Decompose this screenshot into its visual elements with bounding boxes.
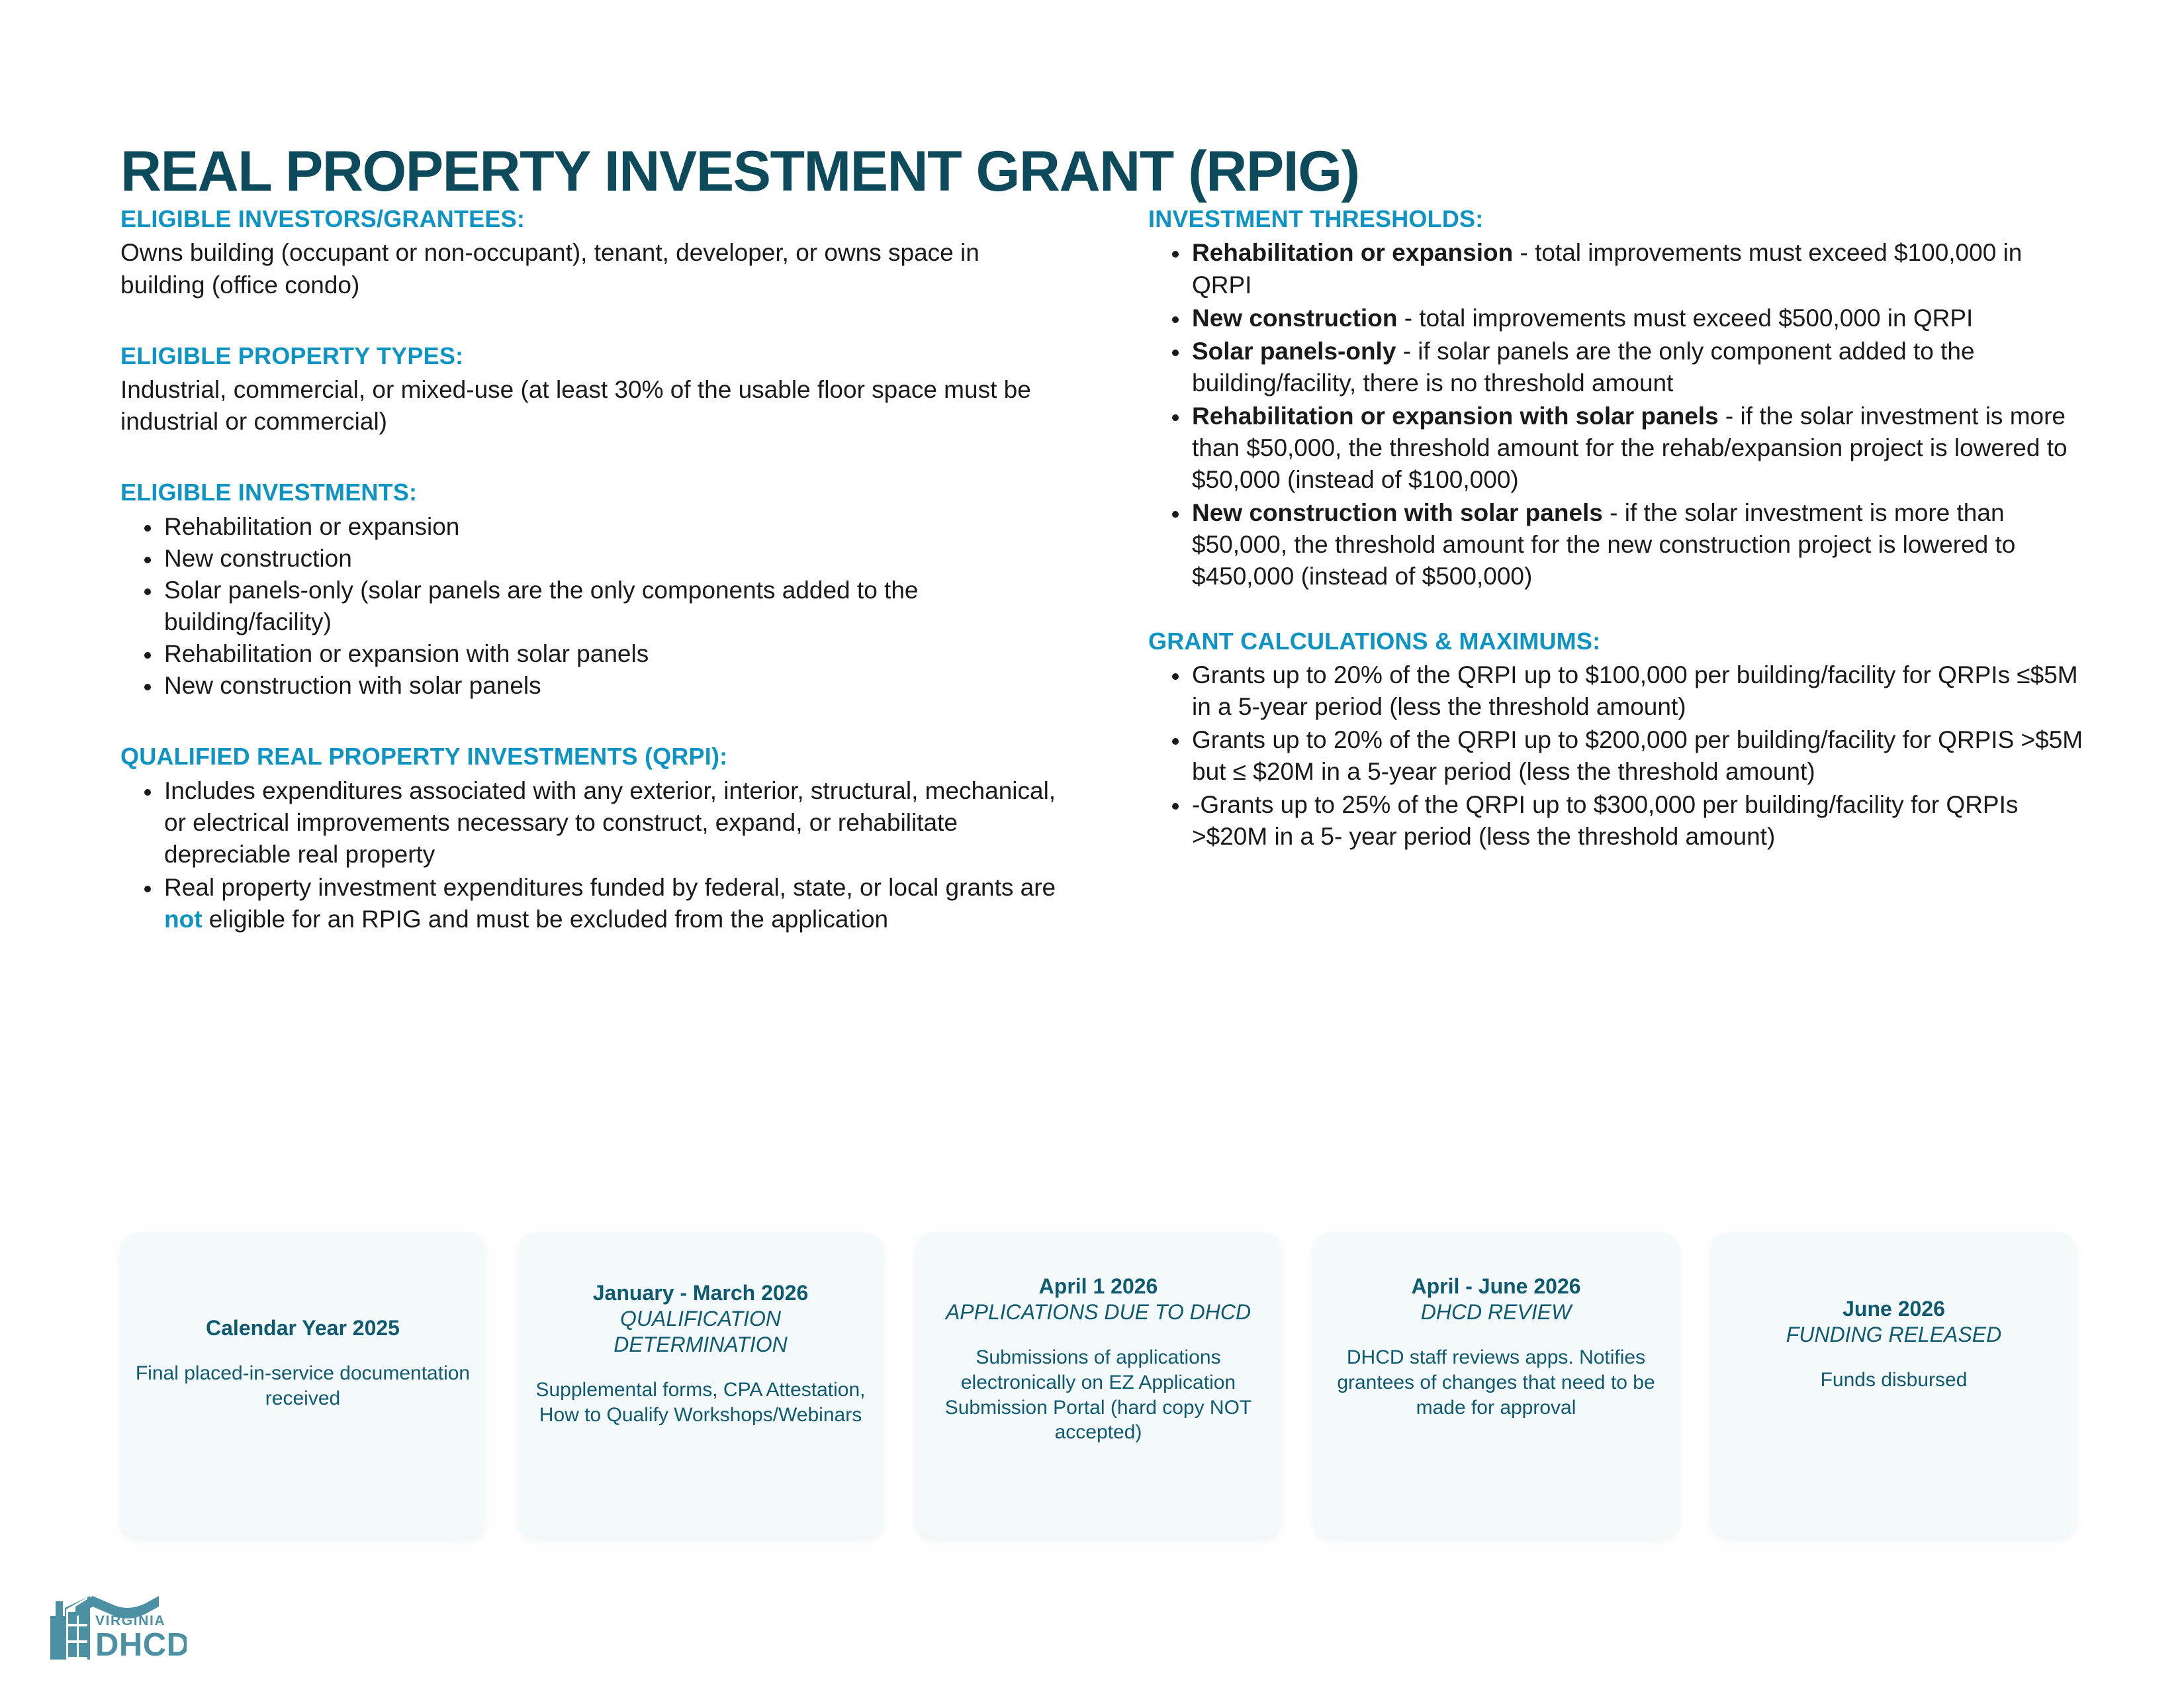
section-heading-property-types: ELIGIBLE PROPERTY TYPES: — [120, 342, 1060, 370]
timeline-card-content: June 2026 FUNDING RELEASED Funds disburs… — [1726, 1296, 2062, 1393]
timeline-phase: DHCD REVIEW — [1328, 1299, 1664, 1325]
document-page: REAL PROPERTY INVESTMENT GRANT (RPIG) EL… — [0, 0, 2184, 1688]
dhcd-logo: VIRGINIA DHCD — [48, 1592, 187, 1668]
timeline-card-content: April - June 2026 DHCD REVIEW DHCD staff… — [1328, 1274, 1664, 1420]
threshold-term: New construction with solar panels — [1192, 499, 1603, 526]
spacer — [120, 301, 1060, 342]
timeline-date: January - March 2026 — [533, 1280, 868, 1306]
list-item: New construction - total improvements mu… — [1148, 303, 2088, 334]
timeline-date: April 1 2026 — [931, 1274, 1266, 1299]
threshold-term: New construction — [1192, 305, 1397, 332]
qrpi-highlight-not: not — [164, 906, 203, 933]
timeline-card-content: Calendar Year 2025 Final placed-in-servi… — [135, 1315, 471, 1411]
qrpi-list: Includes expenditures associated with an… — [120, 775, 1060, 935]
timeline-card-content: January - March 2026 QUALIFICATION DETER… — [533, 1280, 868, 1428]
virginia-dhcd-logo-icon: VIRGINIA DHCD — [48, 1592, 187, 1668]
section-eligible-property-types: ELIGIBLE PROPERTY TYPES: Industrial, com… — [120, 342, 1060, 438]
list-item: -Grants up to 25% of the QRPI up to $300… — [1148, 789, 2088, 853]
list-item: New construction with solar panels - if … — [1148, 497, 2088, 592]
property-types-body: Industrial, commercial, or mixed-use (at… — [120, 374, 1060, 438]
section-heading-grant-calculations: GRANT CALCULATIONS & MAXIMUMS: — [1148, 628, 2088, 655]
grant-calculations-list: Grants up to 20% of the QRPI up to $100,… — [1148, 659, 2088, 853]
qrpi-text-after: eligible for an RPIG and must be exclude… — [203, 906, 889, 933]
list-item: New construction — [120, 543, 1060, 575]
section-heading-qrpi: QUALIFIED REAL PROPERTY INVESTMENTS (QRP… — [120, 743, 1060, 771]
timeline-phase: QUALIFICATION DETERMINATION — [533, 1306, 868, 1358]
list-item: Rehabilitation or expansion - total impr… — [1148, 237, 2088, 301]
timeline-card: Calendar Year 2025 Final placed-in-servi… — [120, 1233, 485, 1537]
section-heading-eligible-investments: ELIGIBLE INVESTMENTS: — [120, 479, 1060, 506]
timeline: Calendar Year 2025 Final placed-in-servi… — [120, 1233, 2096, 1537]
qrpi-text-before: Real property investment expenditures fu… — [164, 874, 1056, 901]
timeline-description: Supplemental forms, CPA Attestation, How… — [533, 1378, 868, 1428]
threshold-detail: - total improvements must exceed $500,00… — [1397, 305, 1973, 332]
section-grant-calculations: GRANT CALCULATIONS & MAXIMUMS: Grants up… — [1148, 628, 2088, 853]
timeline-card: April 1 2026 APPLICATIONS DUE TO DHCD Su… — [916, 1233, 1281, 1537]
list-item: Rehabilitation or expansion with solar p… — [1148, 400, 2088, 496]
timeline-phase: APPLICATIONS DUE TO DHCD — [931, 1299, 1266, 1325]
spacer — [120, 702, 1060, 743]
section-qrpi: QUALIFIED REAL PROPERTY INVESTMENTS (QRP… — [120, 743, 1060, 935]
left-column: ELIGIBLE INVESTORS/GRANTEES: Owns buildi… — [120, 205, 1060, 937]
logo-dhcd-text: DHCD — [95, 1627, 187, 1663]
timeline-date: April - June 2026 — [1328, 1274, 1664, 1299]
page-title: REAL PROPERTY INVESTMENT GRANT (RPIG) — [120, 143, 1359, 200]
section-heading-eligible-investors: ELIGIBLE INVESTORS/GRANTEES: — [120, 205, 1060, 233]
logo-virginia-text: VIRGINIA — [95, 1613, 165, 1628]
section-investment-thresholds: INVESTMENT THRESHOLDS: Rehabilitation or… — [1148, 205, 2088, 593]
list-item: Grants up to 20% of the QRPI up to $100,… — [1148, 659, 2088, 723]
list-item: New construction with solar panels — [120, 670, 1060, 702]
right-column: INVESTMENT THRESHOLDS: Rehabilitation or… — [1148, 205, 2088, 855]
spacer — [1148, 594, 2088, 628]
timeline-phase: FUNDING RELEASED — [1726, 1322, 2062, 1348]
section-heading-investment-thresholds: INVESTMENT THRESHOLDS: — [1148, 205, 2088, 233]
list-item: Solar panels-only (solar panels are the … — [120, 575, 1060, 638]
eligible-investments-list: Rehabilitation or expansion New construc… — [120, 511, 1060, 702]
list-item: Rehabilitation or expansion with solar p… — [120, 638, 1060, 670]
eligible-investors-body: Owns building (occupant or non-occupant)… — [120, 237, 1060, 301]
threshold-term: Rehabilitation or expansion with solar p… — [1192, 402, 1719, 430]
list-item: Solar panels-only - if solar panels are … — [1148, 336, 2088, 399]
timeline-card-content: April 1 2026 APPLICATIONS DUE TO DHCD Su… — [931, 1274, 1266, 1445]
timeline-date: Calendar Year 2025 — [135, 1315, 471, 1341]
section-eligible-investments: ELIGIBLE INVESTMENTS: Rehabilitation or … — [120, 479, 1060, 702]
investment-thresholds-list: Rehabilitation or expansion - total impr… — [1148, 237, 2088, 592]
list-item: Includes expenditures associated with an… — [120, 775, 1060, 870]
timeline-card: January - March 2026 QUALIFICATION DETER… — [518, 1233, 883, 1537]
list-item: Real property investment expenditures fu… — [120, 872, 1060, 935]
timeline-card: April - June 2026 DHCD REVIEW DHCD staff… — [1314, 1233, 1678, 1537]
spacer — [120, 438, 1060, 479]
timeline-description: Final placed-in-service documentation re… — [135, 1361, 471, 1411]
timeline-card: June 2026 FUNDING RELEASED Funds disburs… — [1711, 1233, 2076, 1537]
threshold-term: Solar panels-only — [1192, 338, 1396, 365]
timeline-description: Funds disbursed — [1726, 1368, 2062, 1393]
section-eligible-investors: ELIGIBLE INVESTORS/GRANTEES: Owns buildi… — [120, 205, 1060, 301]
list-item: Grants up to 20% of the QRPI up to $200,… — [1148, 724, 2088, 788]
threshold-term: Rehabilitation or expansion — [1192, 239, 1513, 266]
timeline-description: Submissions of applications electronical… — [931, 1345, 1266, 1445]
list-item: Rehabilitation or expansion — [120, 511, 1060, 543]
timeline-date: June 2026 — [1726, 1296, 2062, 1322]
timeline-description: DHCD staff reviews apps. Notifies grante… — [1328, 1345, 1664, 1420]
